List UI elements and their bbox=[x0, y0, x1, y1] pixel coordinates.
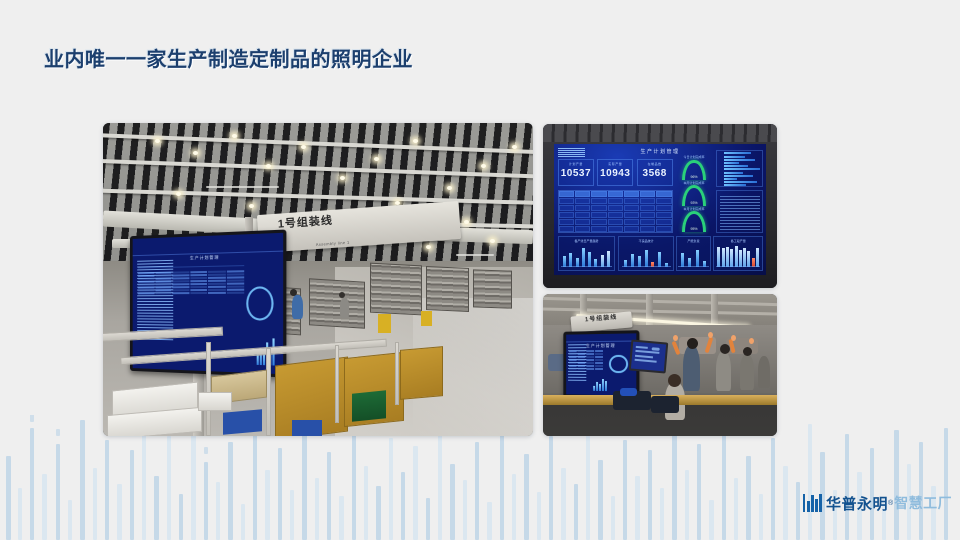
assembly-line-sign-label: 1号组装线 bbox=[585, 314, 618, 323]
chart-defect: 不良品统计 bbox=[618, 236, 673, 271]
photo-workers-assembly-line: 1号组装线 生产计划管理 bbox=[543, 294, 777, 436]
kpi-card: 在制品数 3568 bbox=[637, 159, 673, 185]
screen-title: 生产计划管理 bbox=[566, 342, 636, 349]
brand-registered-mark: ® bbox=[888, 500, 893, 507]
kpi-card: 计划产量 10537 bbox=[558, 159, 594, 185]
gauge-group: 今日计划完成率 96% 本周计划完成率 93% 本月计划完成率 95% bbox=[676, 158, 712, 234]
screen-logo-icon bbox=[136, 258, 173, 340]
photo-factory-assembly-aisle: 1号组装线 Assembly line 1 生产计划管理 bbox=[103, 123, 533, 436]
hpm-bars-logo-mark-icon bbox=[803, 494, 822, 512]
order-detail-table bbox=[716, 190, 763, 233]
production-plan-matrix bbox=[558, 190, 673, 233]
slide-canvas: 业内唯一一家生产制造定制品的照明企业 bbox=[0, 0, 960, 540]
brand-subtitle: 智慧工厂 bbox=[894, 493, 952, 513]
chart-output-trend: 各产线日产量趋势 bbox=[558, 236, 615, 271]
screen-gauge-icon bbox=[609, 354, 628, 373]
brand-name: 华普永明 bbox=[826, 493, 888, 514]
order-progress-hbars bbox=[716, 150, 763, 187]
assembly-line-sign-label: 1号组装线 bbox=[277, 212, 333, 232]
assembly-line-sign-sublabel: Assembly line 1 bbox=[315, 239, 349, 246]
dashboard-screen: 生产计划管理 计划产量 10537 实际产量 10943 在制品数 3568 bbox=[554, 144, 767, 275]
photo-production-dashboard-closeup: 生产计划管理 计划产量 10537 实际产量 10943 在制品数 3568 bbox=[543, 124, 777, 288]
handheld-tablet-screen bbox=[628, 339, 668, 373]
kpi-card: 实际产量 10943 bbox=[597, 159, 633, 185]
screen-bar-chart bbox=[593, 378, 607, 392]
screen-gauge-icon bbox=[246, 286, 273, 320]
chart-capacity: 产能负载 bbox=[676, 236, 711, 271]
page-title: 业内唯一一家生产制造定制品的照明企业 bbox=[44, 43, 413, 72]
chart-line-output: 各工段产量 bbox=[713, 236, 763, 271]
brand-logo: 华普永明 ® 智慧工厂 bbox=[803, 492, 952, 514]
